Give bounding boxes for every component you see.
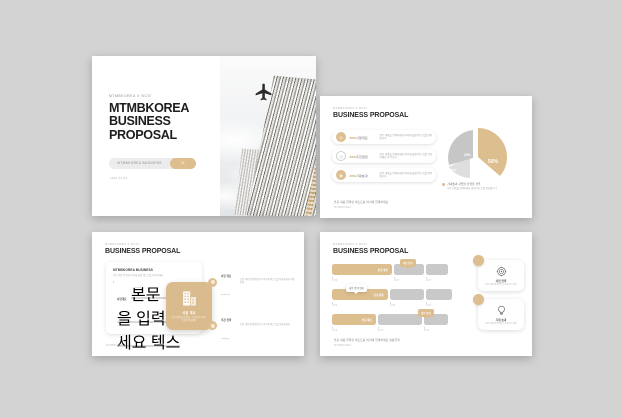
gantt-ticks: 1단계 2단계 3단계 [332,277,460,283]
slide-list-footer: MTMBKOREA [106,342,123,347]
slide-gantt-timeline[interactable]: MTMBKOREA x NCSI BUSINESS PROPOSAL 내용 입력… [320,232,532,356]
list-item[interactable]: ◎ 50%사업개요 본문 내용을 입력하세요 여기에 설명 텍스트를 입력합니다 [332,130,436,144]
pie-row-body: 본문 내용을 입력하세요 여기에 설명 텍스트를 작성하세요 추가 문구 [380,153,433,160]
gantt-row[interactable]: 내용 입력 본문내용 1단계 2단계 3단계 [332,264,460,284]
slide-pie-chart[interactable]: MTMBKOREA x NCSI BUSINESS PROPOSAL ◎ 50%… [320,96,532,218]
gantt-ticks: 1단계 2단계 3단계 [332,302,460,308]
slide-gantt-title: BUSINESS PROPOSAL [333,248,408,255]
gantt-tick: 2단계 [394,277,426,283]
highlight-card-title: 사업 개요 [182,310,196,315]
ring-icon [208,321,217,330]
gantt-bar-tan[interactable]: 본문내용 [332,264,392,275]
list-card-title: MTMBKOREA BUSINESS [113,268,195,272]
pie-legend: 기대효과 사업을 진행할 경우 본문 내용을 입력하세요 설명 텍스트를 작성합… [442,182,518,190]
hero-cta-label: MTMBKOREA BUSINESS [109,161,170,165]
list-item-label: 사업개요 [117,298,127,301]
list-card-subtitle: 본문 내용 입력란 여기에 설명 텍스트를 입력하세요 [113,274,195,277]
hero-photo-skyscraper [220,56,316,216]
gantt-bar-grey[interactable] [378,314,422,325]
highlight-card[interactable]: 사업 개요 본문 내용을 입력하는 공간입니다 텍스트를 입력하세요 [166,282,212,330]
gantt-bars: 본문내용 [332,264,460,275]
pie-row-heading: 20%기대효과 [350,173,380,178]
list-item[interactable]: ◉ 20%기대효과 본문 내용을 입력하세요 여기에 설명 텍스트를 입력합니다 [332,168,436,182]
gantt-tick: 2단계 [390,302,426,308]
gantt-tick: 3단계 [424,327,429,333]
pie-chart: 50% 30% 20% 기대효과 사업을 진행할 경우 본문 내용을 입력하세요… [440,126,518,188]
pie-row-heading: 50%사업개요 [350,135,380,140]
hero-title: MTMBKOREA BUSINESS PROPOSAL [109,102,229,142]
gantt-bar-grey[interactable] [390,289,424,300]
info-card-title: 사업 전략 [496,279,507,283]
gantt-row[interactable]: 내용 입력 안내 본문내용 1단계 2단계 3단계 [332,289,460,309]
pie-chart-svg [440,126,518,182]
hero-cta-pill[interactable]: MTMBKOREA BUSINESS 01 [109,158,196,169]
airplane-icon [254,82,274,102]
pie-legend-title: 기대효과 사업을 진행할 경우 [447,182,497,186]
footer-brand: MTMBKOREA [334,206,388,209]
pie-legend-body: 본문 내용을 입력하세요 설명 텍스트를 작성합니다 [447,187,497,190]
detail-row-label: 기대 효과 effect [221,351,240,356]
hero-footer-date: 2024.01.00 [110,176,128,180]
slide-pie-title: BUSINESS PROPOSAL [333,112,408,119]
hero-cta-button[interactable]: 01 [170,158,196,169]
pie-row-heading: 30%추진일정 [350,154,380,159]
gantt-tick: 3단계 [426,277,431,283]
pie-row-body: 본문 내용을 입력하세요 여기에 설명 텍스트를 입력합니다 [380,172,433,179]
gantt-tooltip[interactable]: 내용 입력 안내 [346,284,367,292]
detail-rows: 사업 개요 proposal 본문 내용 입력란입니다 여기에 텍스트를 작성하… [208,264,295,356]
detail-row-label: 사업 개요 proposal [221,264,240,300]
office-building-icon [181,290,198,307]
presentation-mockup-canvas: MTMBKOREA x NCSI MTMBKOREA BUSINESS PROP… [0,0,622,418]
gantt-bar-grey[interactable] [426,289,452,300]
gantt-bars: 본문내용 [332,314,460,325]
chart-icon: ◉ [336,170,346,180]
slide-list-overview[interactable]: MTMBKOREA x NCSI BUSINESS PROPOSAL MTMBK… [92,232,304,356]
target-gear-icon [496,266,507,277]
gantt-ticks: 1단계 2단계 3단계 [332,327,460,333]
slide-gantt-eyebrow: MTMBKOREA x NCSI [333,243,408,246]
info-card[interactable]: 기대 효과 본문 내용 입력란입니다 텍스트 입력 [478,299,524,330]
table-row[interactable]: 사업 개요 proposal 본문 내용 입력란입니다 여기에 텍스트를 작성하… [208,264,295,300]
info-card-body: 본문 내용 입력란입니다 텍스트 입력 [483,284,519,287]
footer-brand: MTMBKOREA [334,344,400,347]
slide-list-header: MTMBKOREA x NCSI BUSINESS PROPOSAL [105,243,180,255]
badge-circle-icon [473,294,484,305]
hero-eyebrow: MTMBKOREA x NCSI [109,94,229,98]
gantt-bar-grey[interactable] [426,264,448,275]
clock-icon: ◷ [336,151,346,161]
info-card[interactable]: 사업 전략 본문 내용 입력란입니다 텍스트 입력 [478,260,524,291]
gantt-side-cards: 사업 전략 본문 내용 입력란입니다 텍스트 입력 기대 효과 본문 내용 입력… [478,260,524,338]
gantt-tick: 2단계 [378,327,424,333]
list-item[interactable]: ◷ 30%추진일정 본문 내용을 입력하세요 여기에 설명 텍스트를 작성하세요… [332,149,436,163]
highlight-card-body: 본문 내용을 입력하는 공간입니다 텍스트를 입력하세요 [171,317,207,323]
pie-slice-50 [478,128,507,176]
table-row[interactable]: 추진 전략 strategy 본문 내용 입력란입니다 여기에 텍스트를 작성하… [208,308,295,344]
slide-list-eyebrow: MTMBKOREA x NCSI [105,243,180,246]
pie-legend-rows: ◎ 50%사업개요 본문 내용을 입력하세요 여기에 설명 텍스트를 입력합니다… [332,130,436,187]
gantt-chart: 내용 입력 본문내용 1단계 2단계 3단계 내용 입력 안내 [332,264,460,339]
table-row[interactable]: 기대 효과 effect 본문 내용 입력란입니다 여기에 텍스트를 작성하세요 [208,351,295,356]
detail-row-label: 추진 전략 strategy [221,308,240,344]
info-card-body: 본문 내용 입력란입니다 텍스트 입력 [483,323,519,326]
gantt-tooltip[interactable]: 내용 입력 [418,309,434,317]
lightbulb-icon [496,305,507,316]
gantt-tick: 1단계 [332,277,394,283]
detail-row-body: 본문 내용 입력란입니다 여기에 텍스트를 작성하세요 내용 입력 [240,279,295,285]
footer-note: 본문 내용 입력란 텍스트를 여기에 입력하세요 내용입력 [334,338,400,342]
gantt-tooltip[interactable]: 내용 입력 [400,259,416,267]
slide-gantt-footer: 본문 내용 입력란 텍스트를 여기에 입력하세요 내용입력 MTMBKOREA [334,338,400,347]
slide-pie-footer: 본문 내용 입력란 텍스트를 여기에 입력하세요 MTMBKOREA [334,200,388,209]
detail-row-body: 본문 내용 입력란입니다 여기에 텍스트를 작성하세요 [240,324,295,327]
gantt-tick: 1단계 [332,327,378,333]
gantt-tick: 1단계 [332,302,390,308]
legend-dot-icon [442,183,445,186]
gantt-bar-tan[interactable]: 본문내용 [332,314,376,325]
badge-circle-icon [473,255,484,266]
ring-icon [208,278,217,287]
info-card-title: 기대 효과 [496,318,507,322]
gantt-tick: 3단계 [426,302,431,308]
target-icon: ◎ [336,132,346,142]
pie-row-body: 본문 내용을 입력하세요 여기에 설명 텍스트를 입력합니다 [380,134,433,141]
slide-pie-eyebrow: MTMBKOREA x NCSI [333,107,408,110]
footer-brand: MTMBKOREA [106,344,123,347]
slide-gantt-header: MTMBKOREA x NCSI BUSINESS PROPOSAL [333,243,408,255]
footer-note: 본문 내용 입력란 텍스트를 여기에 입력하세요 [334,200,388,204]
hero-text-block: MTMBKOREA x NCSI MTMBKOREA BUSINESS PROP… [109,94,229,142]
slide-title-cover[interactable]: MTMBKOREA x NCSI MTMBKOREA BUSINESS PROP… [92,56,316,216]
gantt-row[interactable]: 내용 입력 본문내용 1단계 2단계 3단계 [332,314,460,334]
slide-list-title: BUSINESS PROPOSAL [105,248,180,255]
slide-pie-header: MTMBKOREA x NCSI BUSINESS PROPOSAL [333,107,408,119]
